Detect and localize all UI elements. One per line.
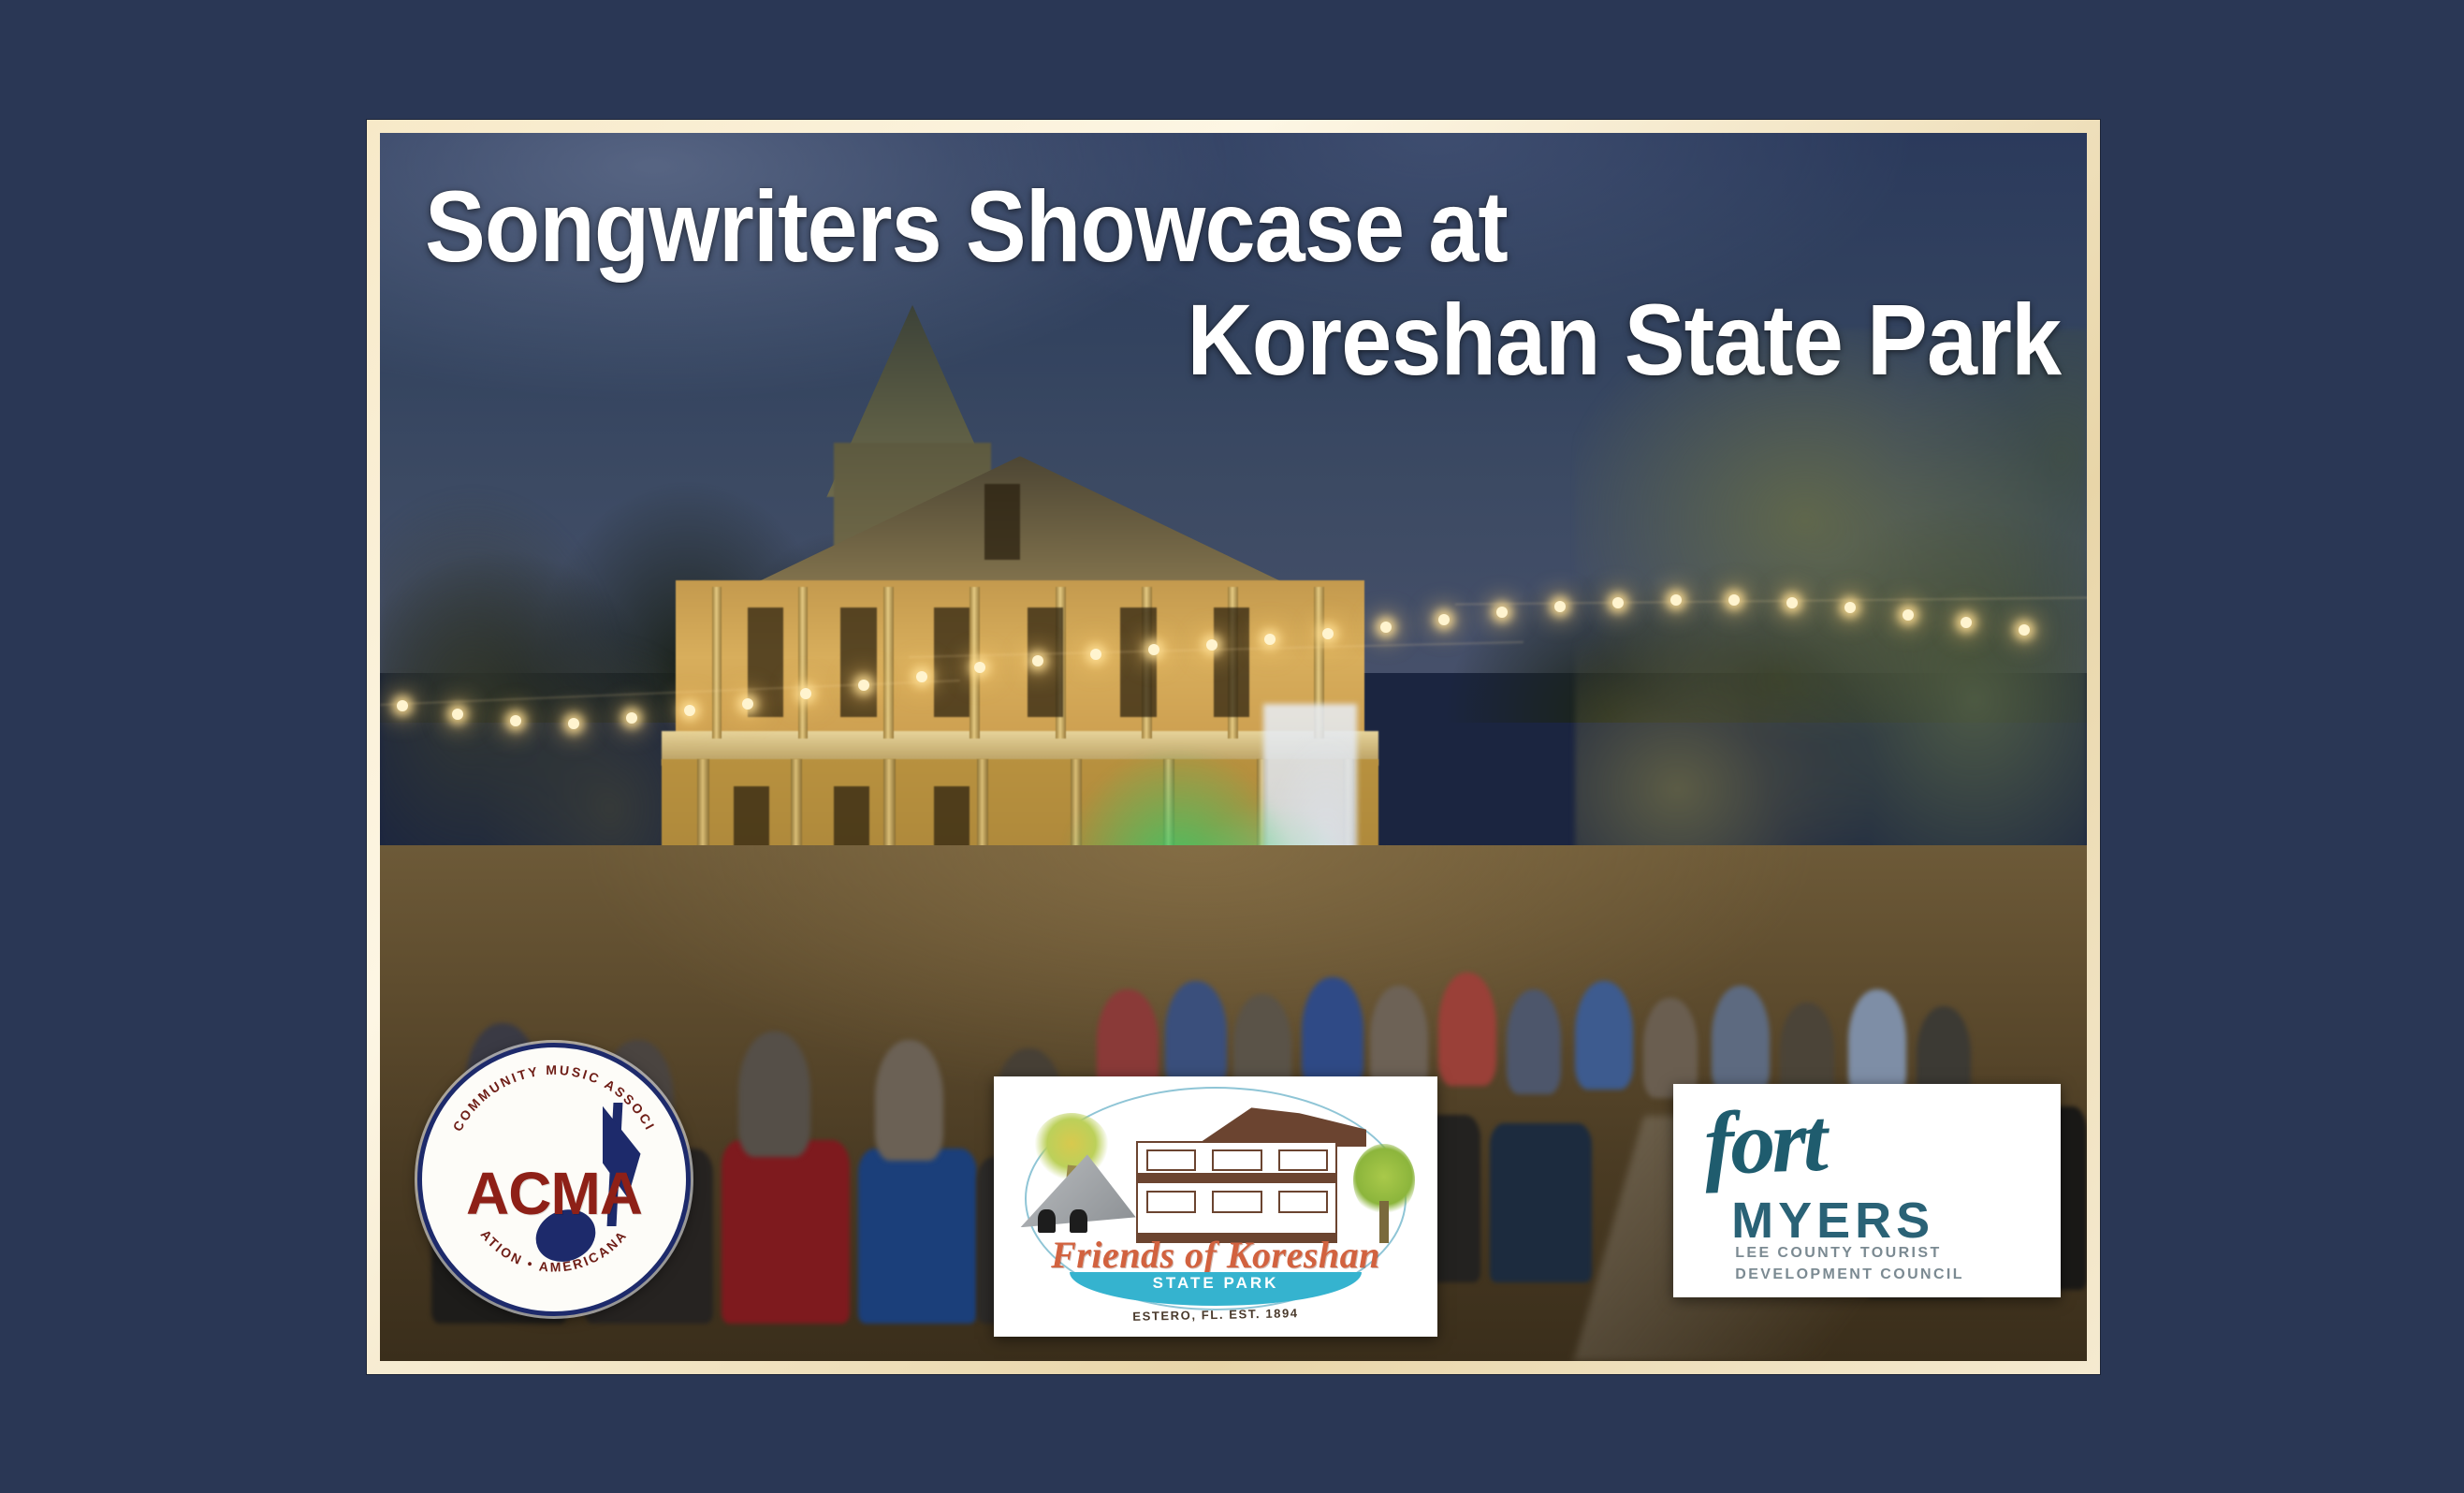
fort-myers-block-word: MYERS [1731, 1195, 1934, 1246]
koreshan-title: Friends of Koreshan [994, 1233, 1437, 1277]
fort-myers-subtitle-line-2: DEVELOPMENT COUNCIL [1735, 1264, 1964, 1285]
fort-myers-script-word: fort [1703, 1097, 1826, 1187]
figure-silhouette [1070, 1209, 1087, 1233]
koreshan-banner-label: STATE PARK [1070, 1272, 1363, 1293]
figure-silhouette [1038, 1209, 1056, 1233]
fort-myers-logo[interactable]: fort MYERS LEE COUNTY TOURIST DEVELOPMEN… [1673, 1084, 2061, 1297]
fort-myers-subtitle-line-1: LEE COUNTY TOURIST [1735, 1242, 1964, 1264]
illustration-window-row [1146, 1149, 1329, 1172]
koreshan-banner: STATE PARK [1070, 1272, 1363, 1306]
sponsor-logo-row: COMMUNITY MUSIC ASSOCI ATION • AMERICANA… [380, 133, 2087, 1361]
fort-myers-subtitle: LEE COUNTY TOURIST DEVELOPMENT COUNCIL [1735, 1242, 1964, 1285]
acma-badge-disc: COMMUNITY MUSIC ASSOCI ATION • AMERICANA… [417, 1043, 691, 1316]
acma-logo[interactable]: COMMUNITY MUSIC ASSOCI ATION • AMERICANA… [417, 1043, 691, 1316]
illustration-porch-band [1136, 1173, 1337, 1183]
photo-frame: Songwriters Showcase at Koreshan State P… [367, 120, 2100, 1374]
acma-acronym: ACMA [422, 1164, 686, 1223]
friends-of-koreshan-logo[interactable]: Friends of Koreshan STATE PARK ESTERO, F… [994, 1076, 1437, 1337]
poster-canvas: Songwriters Showcase at Koreshan State P… [0, 0, 2464, 1493]
illustration-window-row [1146, 1191, 1329, 1213]
koreshan-building-illustration [1127, 1107, 1366, 1237]
event-photo: Songwriters Showcase at Koreshan State P… [380, 133, 2087, 1361]
koreshan-established: ESTERO, FL. EST. 1894 [994, 1303, 1437, 1326]
